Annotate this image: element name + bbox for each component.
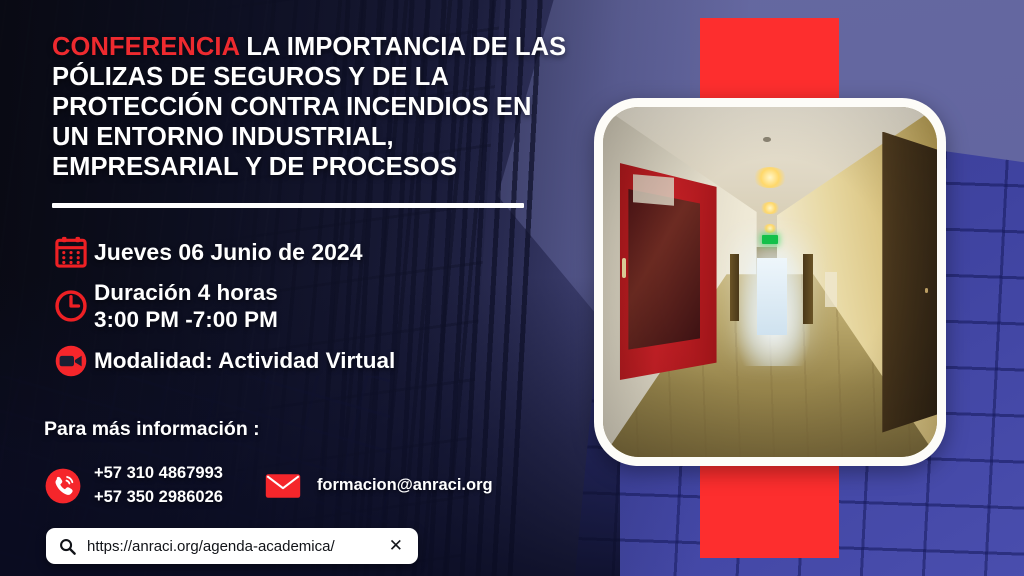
url-text[interactable]: https://anraci.org/agenda-academica/ — [87, 538, 386, 555]
detail-row-modality: Modalidad: Actividad Virtual — [48, 343, 568, 379]
contact-email[interactable]: formacion@anraci.org — [265, 473, 493, 499]
event-date: Jueves 06 Junio de 2024 — [94, 238, 363, 266]
photo-vignette — [603, 107, 937, 457]
clock-icon — [48, 288, 94, 324]
title-divider — [52, 203, 524, 208]
corridor-photo-frame — [594, 98, 946, 466]
close-icon[interactable]: ✕ — [386, 536, 406, 556]
corridor-photo — [603, 107, 937, 457]
event-details: Jueves 06 Junio de 2024 Duración 4 horas… — [48, 234, 568, 388]
contact-block: +57 310 4867993 +57 350 2986026 formacio… — [44, 462, 493, 510]
url-search-bar[interactable]: https://anraci.org/agenda-academica/ ✕ — [46, 528, 418, 564]
calendar-icon — [48, 234, 94, 270]
phone-icon — [44, 467, 82, 505]
video-camera-icon — [48, 343, 94, 379]
envelope-icon — [265, 473, 301, 499]
event-duration: Duración 4 horas 3:00 PM -7:00 PM — [94, 279, 278, 334]
contact-phone[interactable]: +57 310 4867993 +57 350 2986026 — [44, 462, 223, 510]
detail-row-date: Jueves 06 Junio de 2024 — [48, 234, 568, 270]
page-title: CONFERENCIA LA IMPORTANCIA DE LAS PÓLIZA… — [52, 32, 572, 182]
event-modality: Modalidad: Actividad Virtual — [94, 347, 395, 374]
detail-row-duration: Duración 4 horas 3:00 PM -7:00 PM — [48, 279, 568, 334]
email-address: formacion@anraci.org — [317, 476, 493, 495]
more-info-heading: Para más información : — [44, 418, 260, 441]
title-keyword: CONFERENCIA — [52, 33, 239, 61]
search-icon — [58, 537, 77, 556]
phone-numbers: +57 310 4867993 +57 350 2986026 — [94, 462, 223, 510]
poster-canvas: CONFERENCIA LA IMPORTANCIA DE LAS PÓLIZA… — [0, 0, 1024, 576]
